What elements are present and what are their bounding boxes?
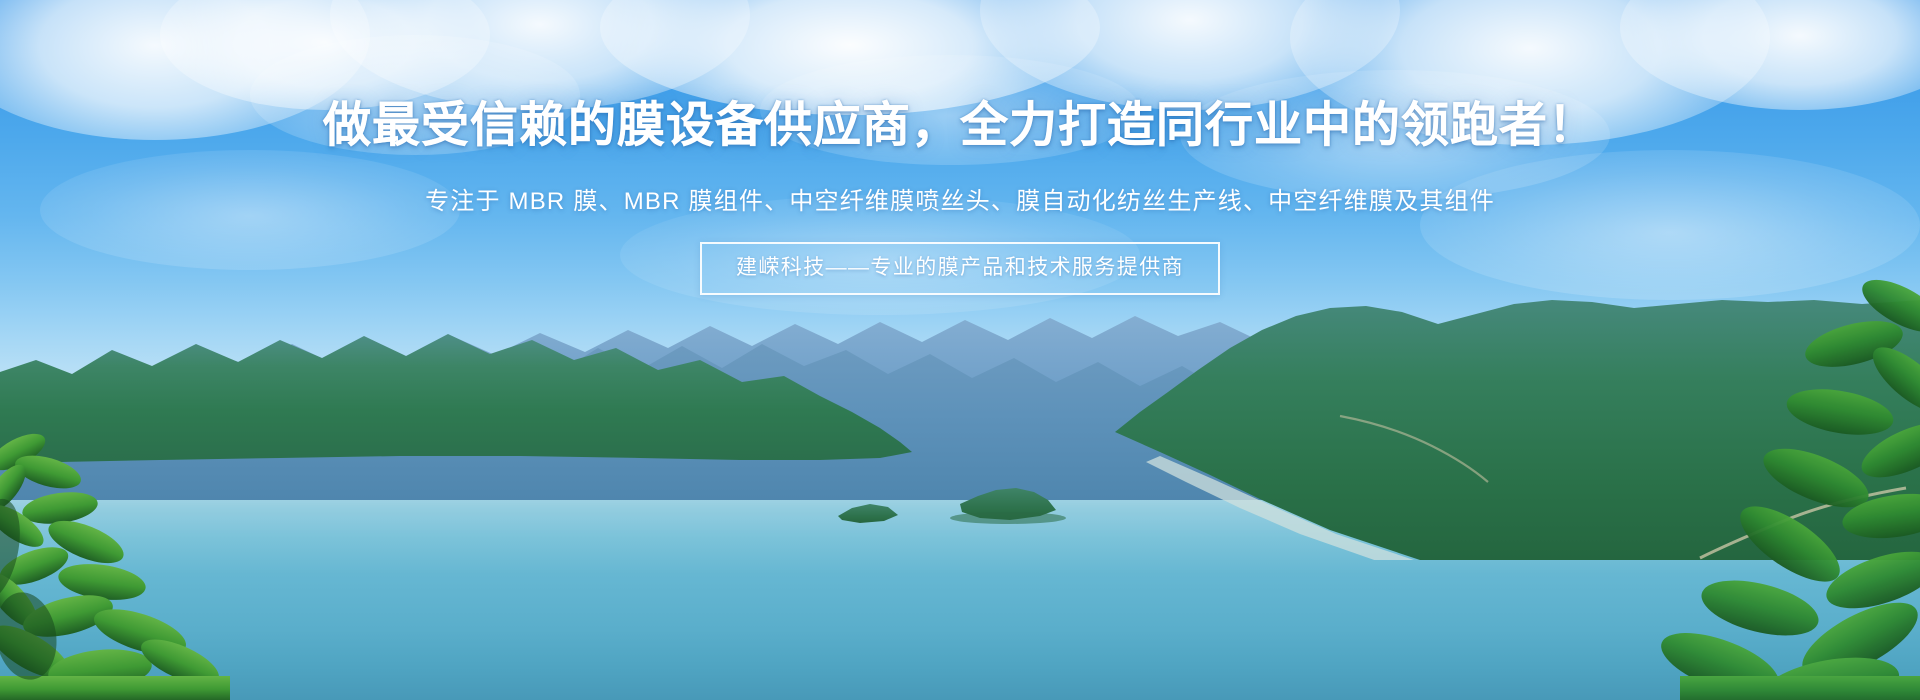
hero-banner: 做最受信赖的膜设备供应商，全力打造同行业中的领跑者！ 专注于 MBR 膜、MBR… <box>0 0 1920 700</box>
banner-headline: 做最受信赖的膜设备供应商，全力打造同行业中的领跑者！ <box>0 97 1920 155</box>
banner-subheadline: 专注于 MBR 膜、MBR 膜组件、中空纤维膜喷丝头、膜自动化纺丝生产线、中空纤… <box>0 185 1920 219</box>
foreground-foliage-left <box>0 400 230 700</box>
banner-tagline-box: 建嵘科技——专业的膜产品和技术服务提供商 <box>700 242 1220 295</box>
tagline-container: 建嵘科技——专业的膜产品和技术服务提供商 <box>0 242 1920 295</box>
foreground-foliage-right <box>1510 240 1920 700</box>
